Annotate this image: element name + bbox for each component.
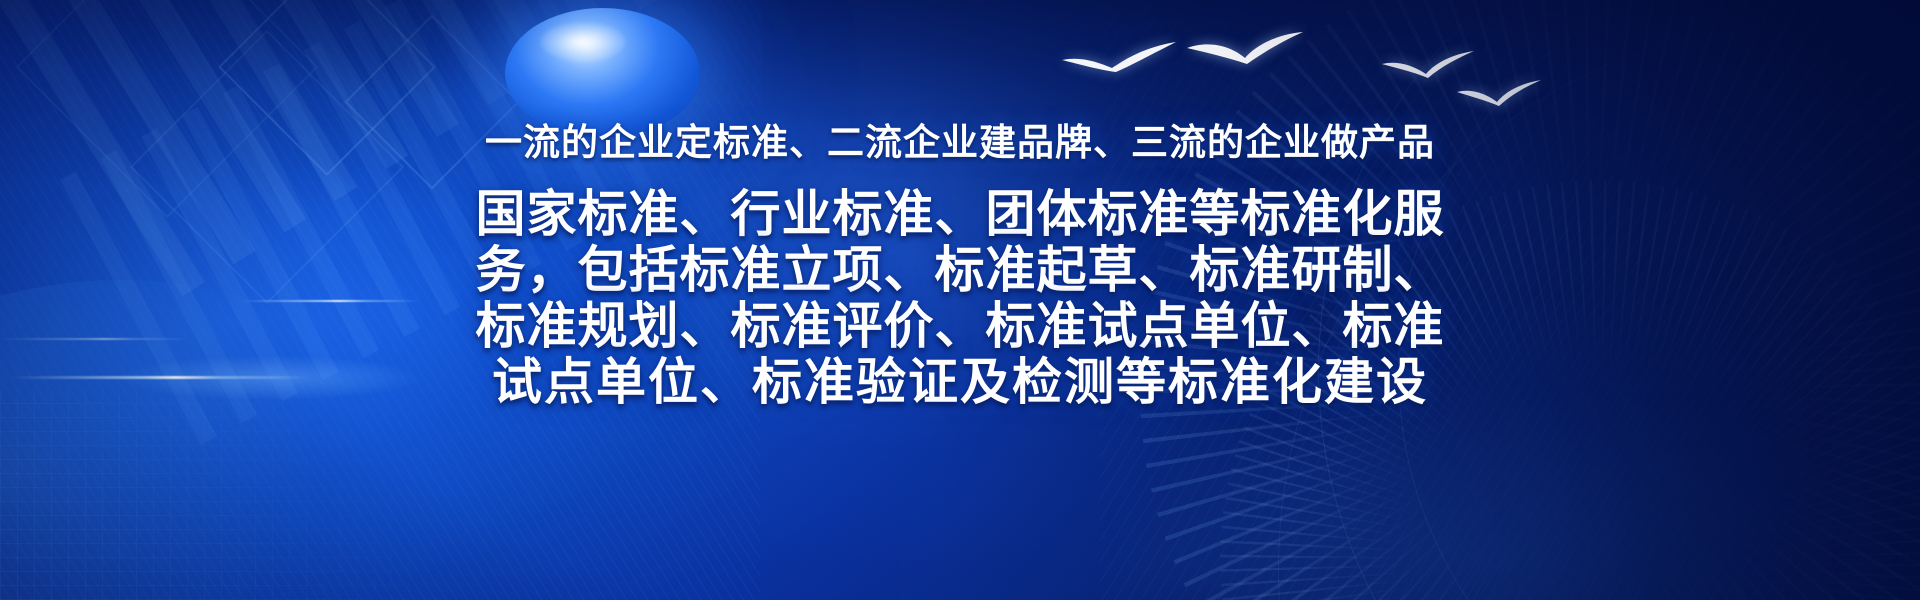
banner-body-line-4: 试点单位、标准验证及检测等标准化建设 [440, 354, 1480, 410]
text-container: 一流的企业定标准、二流企业建品牌、三流的企业做产品 国家标准、行业标准、团体标准… [0, 0, 1920, 600]
banner-headline: 一流的企业定标准、二流企业建品牌、三流的企业做产品 [0, 112, 1920, 166]
banner-body-line-2: 务，包括标准立项、标准起草、标准研制、 [440, 242, 1480, 298]
promo-banner: 一流的企业定标准、二流企业建品牌、三流的企业做产品 国家标准、行业标准、团体标准… [0, 0, 1920, 600]
banner-body-line-1: 国家标准、行业标准、团体标准等标准化服 [440, 186, 1480, 242]
banner-body-line-3: 标准规划、标准评价、标准试点单位、标准 [440, 298, 1480, 354]
banner-body: 国家标准、行业标准、团体标准等标准化服 务，包括标准立项、标准起草、标准研制、 … [440, 186, 1480, 410]
